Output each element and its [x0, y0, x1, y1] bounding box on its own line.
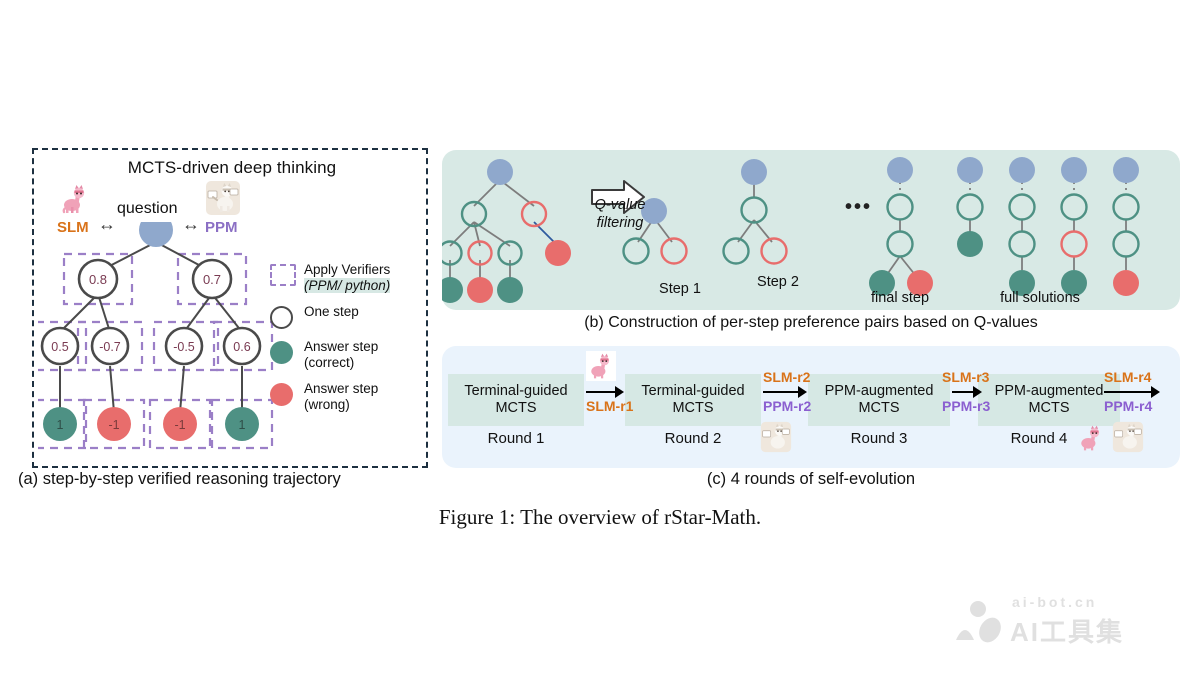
q-value-filtering-label: Q-value filtering — [575, 196, 665, 232]
panel-c-ppm-verifier-icon-2 — [1112, 420, 1144, 454]
panel-c-caption: (c) 4 rounds of self-evolution — [442, 470, 1180, 489]
slm-llama-icon — [58, 182, 92, 216]
svg-text:-1: -1 — [108, 418, 119, 432]
open-circle-icon — [270, 304, 296, 330]
label-final-step: final step — [850, 290, 950, 306]
stage-box-round-2: Terminal-guided MCTS — [625, 374, 761, 426]
ppm-r3-tag: PPM-r3 — [942, 398, 990, 414]
round-label-3: Round 3 — [808, 430, 950, 447]
label-step-2: Step 2 — [738, 274, 818, 290]
panel-a-title: MCTS-driven deep thinking — [34, 158, 430, 178]
legend-item-one-step: One step — [270, 304, 420, 330]
legend-label-one-step: One step — [304, 304, 359, 320]
question-label: question — [117, 200, 178, 218]
label-step-1: Step 1 — [640, 281, 720, 297]
legend-label-verifiers-sub: (PPM/ python) — [304, 278, 390, 293]
legend-label-correct-sub: (correct) — [304, 355, 354, 370]
ppm-r4-tag: PPM-r4 — [1104, 398, 1152, 414]
arrow-4-icon — [1122, 386, 1178, 398]
ppm-verifier-icon — [205, 180, 239, 214]
svg-text:1: 1 — [57, 418, 64, 432]
arrow-3-icon — [952, 386, 978, 398]
panel-c-ppm-verifier-icon-1 — [760, 420, 792, 454]
legend-label-verifiers-main: Apply Verifiers — [304, 262, 390, 277]
stage-box-round-3: PPM-augmented MCTS — [808, 374, 950, 426]
slm-r2-tag: SLM-r2 — [763, 369, 810, 385]
arrow-2-icon — [763, 386, 807, 398]
svg-text:0.8: 0.8 — [89, 272, 107, 287]
transition-4: SLM-r4 PPM-r4 — [1122, 386, 1178, 398]
svg-text:0.6: 0.6 — [233, 340, 250, 354]
ellipsis-icon: ••• — [845, 196, 872, 219]
stage-box-round-1: Terminal-guided MCTS — [448, 374, 584, 426]
round-label-1: Round 1 — [448, 430, 584, 447]
panel-c-slm-llama-icon-1 — [586, 350, 616, 382]
legend-item-verifiers: Apply Verifiers (PPM/ python) — [270, 262, 420, 295]
red-circle-icon — [270, 381, 296, 407]
slm-r4-tag: SLM-r4 — [1104, 369, 1151, 385]
panel-a-tree: 0.8 0.7 0.5 -0.7 -0.5 0.6 1 -1 -1 1 — [38, 222, 274, 462]
legend-label-wrong-main: Answer step — [304, 381, 378, 396]
ai-bot-logo-icon — [952, 600, 1010, 644]
teal-circle-icon — [270, 339, 296, 365]
figure-root: MCTS-driven deep thinking SLM — [0, 0, 1200, 675]
watermark: ai-bot.cn AI工具集 — [952, 592, 1192, 654]
slm-r3-tag: SLM-r3 — [942, 369, 989, 385]
stage-box-round-4: PPM-augmented MCTS — [978, 374, 1120, 426]
watermark-line-1: ai-bot.cn — [1012, 594, 1097, 610]
panel-b-caption: (b) Construction of per-step preference … — [442, 314, 1180, 332]
legend-item-answer-correct: Answer step (correct) — [270, 339, 420, 372]
transition-1: SLM-r1 — [586, 386, 624, 414]
legend-label-correct-main: Answer step — [304, 339, 378, 354]
figure-caption: Figure 1: The overview of rStar-Math. — [0, 505, 1200, 530]
transition-3: SLM-r3 PPM-r3 — [952, 386, 978, 398]
round-label-2: Round 2 — [625, 430, 761, 447]
watermark-line-2: AI工具集 — [1010, 612, 1124, 649]
dashed-box-icon — [270, 262, 296, 288]
transition-2: SLM-r2 PPM-r2 — [763, 386, 807, 414]
panel-c-slm-llama-icon-2 — [1076, 422, 1106, 454]
svg-text:-0.5: -0.5 — [173, 340, 195, 354]
svg-text:-1: -1 — [174, 418, 185, 432]
panel-a-caption: (a) step-by-step verified reasoning traj… — [18, 470, 438, 489]
arrow-1-icon — [586, 386, 624, 398]
panel-a-legend: Apply Verifiers (PPM/ python) One step A… — [270, 262, 420, 423]
legend-label-wrong-sub: (wrong) — [304, 397, 350, 412]
legend-item-answer-wrong: Answer step (wrong) — [270, 381, 420, 414]
slm-r1-tag: SLM-r1 — [586, 398, 624, 414]
svg-text:0.7: 0.7 — [203, 272, 221, 287]
svg-text:1: 1 — [239, 418, 246, 432]
ppm-r2-tag: PPM-r2 — [763, 398, 807, 414]
svg-text:0.5: 0.5 — [51, 340, 68, 354]
label-full-solutions: full solutions — [975, 290, 1105, 306]
svg-text:-0.7: -0.7 — [99, 340, 121, 354]
